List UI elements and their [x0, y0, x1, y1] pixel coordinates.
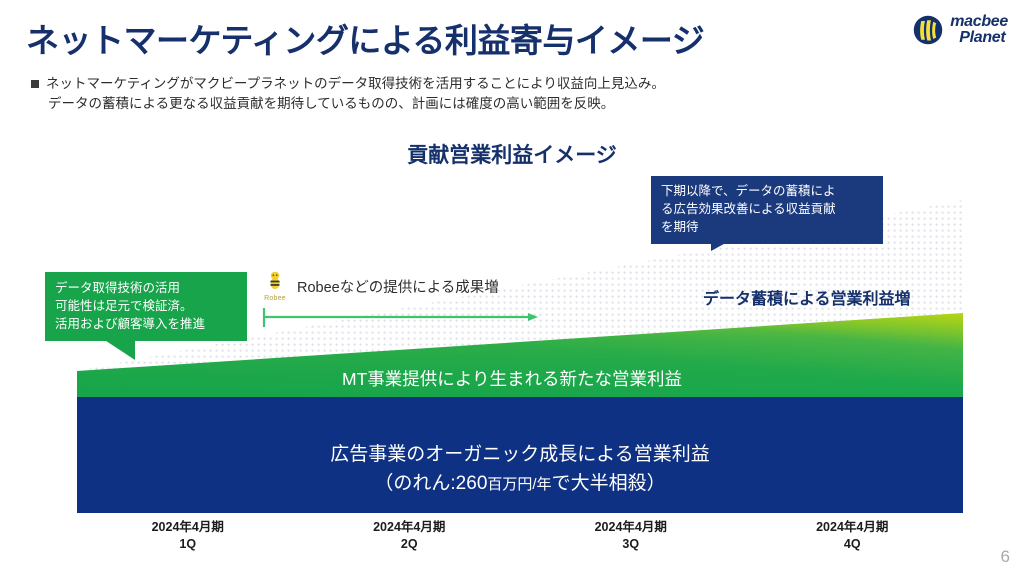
square-bullet-icon [31, 80, 39, 88]
robee-annotation: Robee Robeeなどの提供による成果増 [262, 270, 499, 302]
bullet-paragraph: ネットマーケティングがマクビープラネットのデータ取得技術を活用することにより収益… [31, 74, 665, 115]
logo-wordmark: macbee Planet [950, 14, 1008, 45]
callout-green-line-1: データ取得技術の活用 [55, 279, 237, 297]
callout-green: データ取得技術の活用 可能性は足元で検証済。 活用および顧客導入を推進 [45, 272, 247, 341]
navy-line2-part-b: 百万円/年 [487, 476, 551, 493]
callout-navy-tail [711, 227, 755, 251]
label-green-band: MT事業提供により生まれる新たな営業利益 [0, 366, 1024, 391]
axis-tick-4: 2024年4月期 4Q [742, 519, 964, 553]
axis-tick-1: 2024年4月期 1Q [77, 519, 299, 553]
axis-tick-3-period: 2024年4月期 [520, 519, 742, 536]
robee-icon-caption: Robee [262, 295, 288, 302]
logo-line-1: macbee [950, 14, 1008, 30]
page-number: 6 [1001, 547, 1010, 567]
callout-green-line-3: 活用および顧客導入を推進 [55, 315, 237, 333]
callout-green-text: データ取得技術の活用 可能性は足元で検証済。 活用および顧客導入を推進 [45, 272, 247, 341]
page-title: ネットマーケティングによる利益寄与イメージ [26, 14, 704, 62]
axis-tick-1-quarter: 1Q [77, 536, 299, 553]
x-axis-labels: 2024年4月期 1Q 2024年4月期 2Q 2024年4月期 3Q 2024… [77, 519, 963, 553]
navy-block-line-1: 広告事業のオーガニック成長による営業利益 [77, 440, 963, 469]
callout-navy-line-3: を期待 [661, 219, 873, 237]
callout-green-tail [97, 335, 135, 360]
axis-tick-2-period: 2024年4月期 [299, 519, 521, 536]
axis-tick-3-quarter: 3Q [520, 536, 742, 553]
macbee-logo-icon [913, 15, 943, 45]
axis-tick-2-quarter: 2Q [299, 536, 521, 553]
slide-root: ネットマーケティングによる利益寄与イメージ macbee Planet ネットマ… [0, 0, 1024, 573]
label-data-accumulation: データ蓄積による営業利益増 [703, 285, 911, 309]
robee-bee-icon: Robee [262, 270, 288, 302]
axis-tick-3: 2024年4月期 3Q [520, 519, 742, 553]
chart-title: 貢献営業利益イメージ [0, 139, 1024, 169]
logo-line-2: Planet [950, 30, 1008, 46]
navy-block-line-2: （のれん:260百万円/年で大半相殺） [77, 469, 963, 498]
label-navy-block: 広告事業のオーガニック成長による営業利益 （のれん:260百万円/年で大半相殺） [77, 440, 963, 499]
navy-line2-part-a: （のれん:260 [374, 473, 487, 494]
axis-tick-4-period: 2024年4月期 [742, 519, 964, 536]
callout-navy-line-1: 下期以降で、データの蓄積によ [661, 183, 873, 201]
bullet-line-2: データの蓄積による更なる収益貢献を期待しているものの、計画には確度の高い範囲を反… [46, 94, 665, 114]
callout-navy-line-2: る広告効果改善による収益貢献 [661, 201, 873, 219]
axis-tick-1-period: 2024年4月期 [77, 519, 299, 536]
robee-arrow [262, 306, 542, 335]
callout-green-line-2: 可能性は足元で検証済。 [55, 297, 237, 315]
bullet-line-1: ネットマーケティングがマクビープラネットのデータ取得技術を活用することにより収益… [46, 74, 665, 94]
bullet-text: ネットマーケティングがマクビープラネットのデータ取得技術を活用することにより収益… [46, 74, 665, 115]
callout-navy: 下期以降で、データの蓄積によ る広告効果改善による収益貢献 を期待 [651, 176, 883, 244]
brand-logo: macbee Planet [913, 14, 1008, 45]
axis-tick-4-quarter: 4Q [742, 536, 964, 553]
navy-line2-part-c: で大半相殺） [552, 473, 666, 494]
robee-label: Robeeなどの提供による成果増 [297, 276, 499, 297]
callout-navy-text: 下期以降で、データの蓄積によ る広告効果改善による収益貢献 を期待 [651, 176, 883, 244]
axis-tick-2: 2024年4月期 2Q [299, 519, 521, 553]
